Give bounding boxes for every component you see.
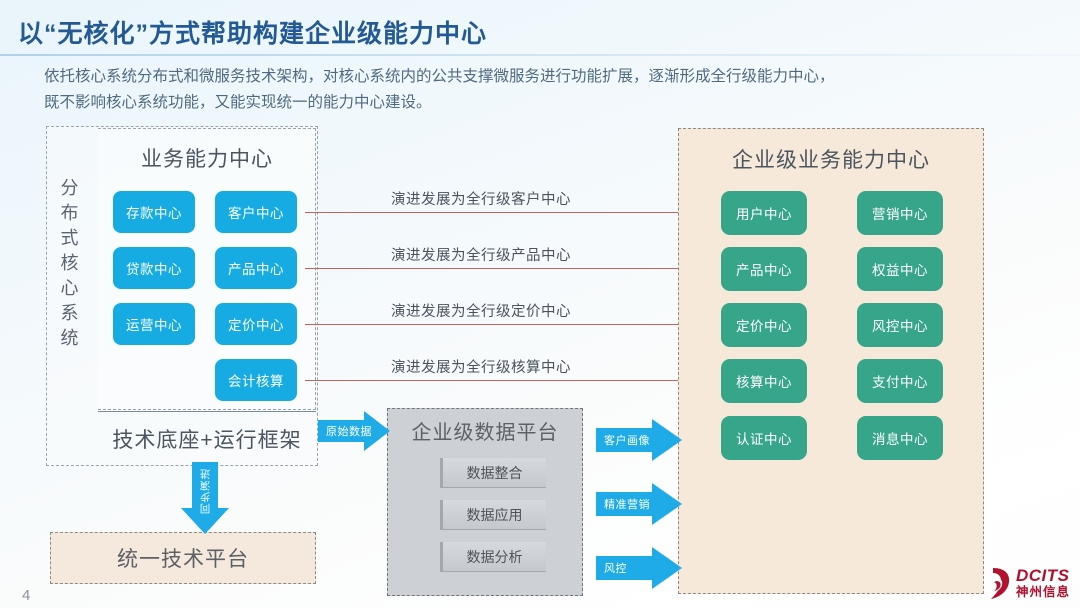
connector-line-accounting (305, 380, 725, 381)
capability-box-accounting[interactable]: 会计核算 (215, 359, 297, 401)
arrow-risk-control-label: 风控 (596, 560, 627, 576)
enterprise-box-label: 消息中心 (872, 428, 928, 448)
enterprise-box-label: 用户中心 (736, 203, 792, 223)
title-divider (0, 54, 1080, 56)
enterprise-box-message[interactable]: 消息中心 (857, 416, 943, 460)
subtitle-line-1: 依托核心系统分布式和微服务技术架构，对核心系统内的公共支撑微服务进行功能扩展，逐… (44, 64, 984, 90)
arrow-raw-data-label: 原始数据 (318, 423, 372, 439)
enterprise-box-benefit[interactable]: 权益中心 (857, 247, 943, 291)
enterprise-box-accounting[interactable]: 核算中心 (721, 359, 807, 403)
logo-text-cn: 神州信息 (1016, 586, 1070, 599)
evolve-label-product: 演进发展为全行级产品中心 (391, 244, 571, 265)
capability-box-label: 客户中心 (228, 202, 284, 222)
enterprise-data-platform-title: 企业级数据平台 (387, 416, 583, 445)
data-platform-item-analysis[interactable]: 数据分析 (440, 542, 546, 572)
arrow-raw-data: 原始数据 (318, 411, 390, 451)
enterprise-box-label: 风控中心 (872, 315, 928, 335)
page-subtitle: 依托核心系统分布式和微服务技术架构，对核心系统内的公共支撑微服务进行功能扩展，逐… (44, 64, 984, 116)
enterprise-box-label: 认证中心 (736, 428, 792, 448)
data-platform-item-integration[interactable]: 数据整合 (440, 458, 546, 488)
enterprise-capability-center-title: 企业级业务能力中心 (678, 144, 984, 174)
enterprise-box-user[interactable]: 用户中心 (721, 191, 807, 235)
capability-box-pricing[interactable]: 定价中心 (215, 303, 297, 345)
dcits-mark-icon (985, 566, 1011, 600)
capability-box-label: 会计核算 (228, 370, 284, 390)
page-number: 4 (22, 587, 30, 604)
arrow-precision-marketing: 精准营销 (596, 483, 682, 525)
subtitle-line-2: 既不影响核心系统功能，又能实现统一的能力中心建设。 (44, 90, 984, 116)
enterprise-box-auth[interactable]: 认证中心 (721, 416, 807, 460)
enterprise-box-marketing[interactable]: 营销中心 (857, 191, 943, 235)
data-platform-item-label: 数据应用 (467, 505, 523, 525)
enterprise-box-label: 定价中心 (736, 315, 792, 335)
capability-box-label: 存款中心 (126, 202, 182, 222)
capability-box-deposit[interactable]: 存款中心 (113, 191, 195, 233)
arrow-customer-profile-label: 客户画像 (596, 432, 650, 448)
logo-text: DCITS 神州信息 (1016, 567, 1070, 599)
capability-box-label: 贷款中心 (126, 258, 182, 278)
capability-box-operation[interactable]: 运营中心 (113, 303, 195, 345)
capability-box-loan[interactable]: 贷款中心 (113, 247, 195, 289)
unified-tech-platform-label: 统一技术平台 (117, 543, 249, 573)
data-platform-item-application[interactable]: 数据应用 (440, 500, 546, 530)
arrow-risk-control: 风控 (596, 547, 682, 589)
enterprise-box-product[interactable]: 产品中心 (721, 247, 807, 291)
enterprise-box-pricing[interactable]: 定价中心 (721, 303, 807, 347)
data-platform-item-label: 数据分析 (467, 547, 523, 567)
enterprise-box-risk[interactable]: 风控中心 (857, 303, 943, 347)
unified-tech-platform-box[interactable]: 统一技术平台 (50, 532, 316, 584)
capability-box-label: 定价中心 (228, 314, 284, 334)
company-logo: DCITS 神州信息 (985, 566, 1070, 600)
connector-line-customer (305, 212, 725, 213)
capability-box-label: 产品中心 (228, 258, 284, 278)
arrow-sync-evolve-label: 同步演进 (198, 468, 213, 514)
logo-text-en: DCITS (1016, 567, 1070, 584)
arrow-customer-profile: 客户画像 (596, 419, 682, 461)
capability-box-product[interactable]: 产品中心 (215, 247, 297, 289)
distributed-core-system-label: 分布式核心系统 (52, 176, 88, 351)
enterprise-box-label: 支付中心 (872, 371, 928, 391)
evolve-label-customer: 演进发展为全行级客户中心 (391, 188, 571, 209)
evolve-label-pricing: 演进发展为全行级定价中心 (391, 300, 571, 321)
business-capability-center-title: 业务能力中心 (98, 143, 316, 173)
capability-box-customer[interactable]: 客户中心 (215, 191, 297, 233)
enterprise-box-payment[interactable]: 支付中心 (857, 359, 943, 403)
connector-line-pricing (305, 324, 725, 325)
connector-line-product (305, 268, 725, 269)
enterprise-box-label: 核算中心 (736, 371, 792, 391)
enterprise-box-label: 产品中心 (736, 259, 792, 279)
arrow-precision-marketing-label: 精准营销 (596, 496, 650, 512)
enterprise-box-label: 营销中心 (872, 203, 928, 223)
evolve-label-accounting: 演进发展为全行级核算中心 (391, 356, 571, 377)
page-title: 以“无核化”方式帮助构建企业级能力中心 (18, 14, 487, 50)
data-platform-item-label: 数据整合 (467, 463, 523, 483)
enterprise-box-label: 权益中心 (872, 259, 928, 279)
capability-box-label: 运营中心 (126, 314, 182, 334)
arrow-sync-evolve: 同步演进 (181, 462, 229, 534)
tech-base-label: 技术底座+运行框架 (98, 411, 316, 465)
